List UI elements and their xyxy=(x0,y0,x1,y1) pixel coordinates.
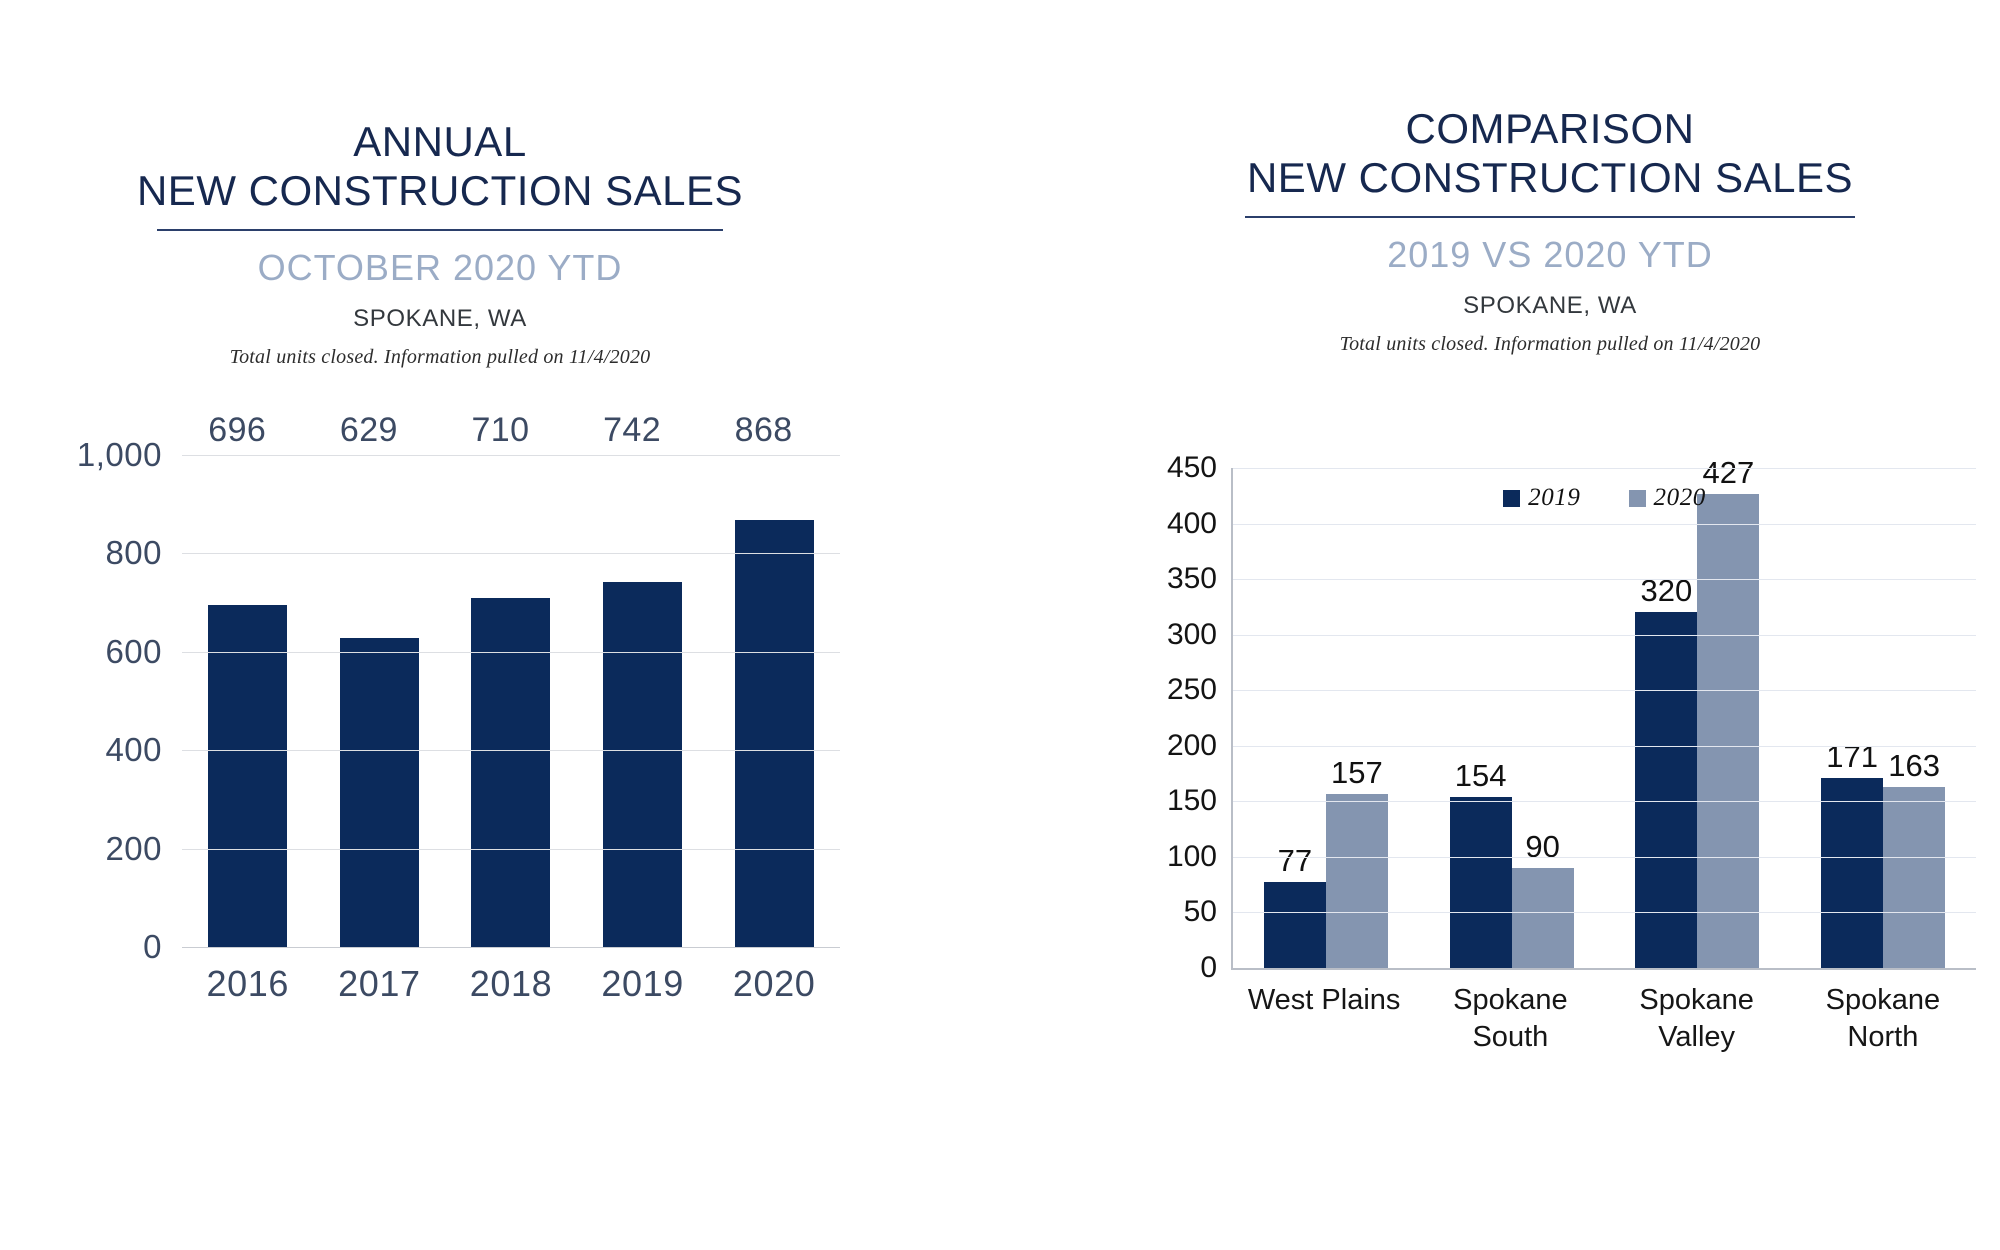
infographic-page: ANNUAL NEW CONSTRUCTION SALES OCTOBER 20… xyxy=(0,0,2000,1250)
bar-value-label: 154 xyxy=(1455,758,1507,794)
comparison-sales-panel: COMPARISON NEW CONSTRUCTION SALES 2019 V… xyxy=(1090,0,2000,1250)
annual-plot-area: 696629710742868 xyxy=(182,455,840,947)
bar-value-label: 163 xyxy=(1888,748,1940,784)
bar-value-label: 742 xyxy=(603,411,661,450)
comparison-note: Total units closed. Information pulled o… xyxy=(1115,333,1985,356)
bar[interactable]: 629 xyxy=(340,638,419,947)
bar[interactable]: 696 xyxy=(208,605,287,947)
bar-group[interactable]: 710 xyxy=(445,455,577,947)
bar-value-label: 629 xyxy=(340,411,398,450)
annual-title: ANNUAL NEW CONSTRUCTION SALES xyxy=(40,118,840,215)
comparison-subtitle: 2019 VS 2020 YTD xyxy=(1115,234,1985,276)
y-tick-label: 1,000 xyxy=(40,436,162,474)
gridline xyxy=(182,455,840,456)
y-tick-label: 0 xyxy=(1115,951,1217,985)
bar-value-label: 77 xyxy=(1278,843,1312,879)
comparison-header: COMPARISON NEW CONSTRUCTION SALES 2019 V… xyxy=(1115,105,1985,356)
x-tick-label: Spokane North xyxy=(1790,982,1976,1056)
y-tick-label: 400 xyxy=(1115,507,1217,541)
bar[interactable]: 427 xyxy=(1697,494,1759,968)
comparison-location: SPOKANE, WA xyxy=(1115,292,1985,320)
y-tick-label: 200 xyxy=(1115,729,1217,763)
x-tick-label: West Plains xyxy=(1231,982,1417,1056)
bar-wrapper: 171 xyxy=(1821,778,1883,968)
comparison-divider xyxy=(1245,216,1855,218)
y-tick-label: 400 xyxy=(40,731,162,769)
bar-group[interactable]: 171163 xyxy=(1790,468,1976,968)
bar-value-label: 171 xyxy=(1826,739,1878,775)
annual-location: SPOKANE, WA xyxy=(40,305,840,333)
gridline xyxy=(1233,912,1976,913)
bar-group[interactable]: 77157 xyxy=(1233,468,1419,968)
bar-wrapper: 163 xyxy=(1883,787,1945,968)
gridline xyxy=(182,652,840,653)
bar-value-label: 710 xyxy=(471,411,529,450)
bar[interactable]: 742 xyxy=(603,582,682,947)
y-tick-label: 450 xyxy=(1115,451,1217,485)
gridline xyxy=(1233,635,1976,636)
bar-value-label: 90 xyxy=(1525,829,1559,865)
y-tick-label: 600 xyxy=(40,633,162,671)
y-tick-label: 150 xyxy=(1115,784,1217,818)
gridline xyxy=(1233,746,1976,747)
bar-wrapper: 320 xyxy=(1635,612,1697,968)
y-tick-label: 250 xyxy=(1115,673,1217,707)
gridline xyxy=(1233,468,1976,469)
y-tick-label: 300 xyxy=(1115,618,1217,652)
bar[interactable]: 171 xyxy=(1821,778,1883,968)
bar-value-label: 427 xyxy=(1703,455,1755,491)
x-tick-label: 2020 xyxy=(708,963,840,1005)
bar-wrapper: 154 xyxy=(1450,797,1512,968)
bar[interactable]: 90 xyxy=(1512,868,1574,968)
annual-note: Total units closed. Information pulled o… xyxy=(40,346,840,369)
bar-group[interactable]: 320427 xyxy=(1605,468,1791,968)
bar[interactable]: 163 xyxy=(1883,787,1945,968)
y-tick-label: 100 xyxy=(1115,840,1217,874)
annual-subtitle: OCTOBER 2020 YTD xyxy=(40,247,840,289)
comparison-x-axis-labels: West PlainsSpokane SouthSpokane ValleySp… xyxy=(1231,982,1976,1056)
y-tick-label: 200 xyxy=(40,830,162,868)
comparison-y-axis: 050100150200250300350400450 xyxy=(1115,450,1217,990)
gridline xyxy=(182,849,840,850)
y-tick-label: 0 xyxy=(40,928,162,966)
bar-wrapper: 77 xyxy=(1264,882,1326,968)
bar[interactable]: 154 xyxy=(1450,797,1512,968)
bar-group[interactable]: 742 xyxy=(577,455,709,947)
gridline xyxy=(1233,579,1976,580)
gridline xyxy=(1233,857,1976,858)
bar-wrapper: 427 xyxy=(1697,494,1759,968)
comparison-plot-area: 7715715490320427171163 20192020 xyxy=(1231,468,1976,970)
gridline xyxy=(182,553,840,554)
gridline xyxy=(182,750,840,751)
bar[interactable]: 868 xyxy=(735,520,814,947)
y-tick-label: 800 xyxy=(40,534,162,572)
bar[interactable]: 157 xyxy=(1326,794,1388,968)
bar-wrapper: 157 xyxy=(1326,794,1388,968)
comparison-bars: 7715715490320427171163 xyxy=(1233,468,1976,968)
comparison-bar-chart: 050100150200250300350400450 771571549032… xyxy=(1115,450,1985,1010)
annual-y-axis: 02004006008001,000 xyxy=(40,455,162,947)
gridline xyxy=(182,947,840,948)
y-tick-label: 350 xyxy=(1115,562,1217,596)
bar[interactable]: 320 xyxy=(1635,612,1697,968)
y-tick-label: 50 xyxy=(1115,895,1217,929)
x-tick-label: Spokane Valley xyxy=(1604,982,1790,1056)
annual-divider xyxy=(157,229,723,231)
x-tick-label: 2018 xyxy=(445,963,577,1005)
x-tick-label: 2017 xyxy=(314,963,446,1005)
annual-sales-panel: ANNUAL NEW CONSTRUCTION SALES OCTOBER 20… xyxy=(0,0,880,1250)
bar-group[interactable]: 868 xyxy=(708,455,840,947)
bar-group[interactable]: 15490 xyxy=(1419,468,1605,968)
comparison-title: COMPARISON NEW CONSTRUCTION SALES xyxy=(1115,105,1985,202)
bar-value-label: 157 xyxy=(1331,755,1383,791)
annual-bar-chart: 02004006008001,000 696629710742868 20162… xyxy=(40,455,840,1015)
bar[interactable]: 710 xyxy=(471,598,550,947)
annual-header: ANNUAL NEW CONSTRUCTION SALES OCTOBER 20… xyxy=(40,118,840,369)
x-tick-label: 2016 xyxy=(182,963,314,1005)
x-tick-label: 2019 xyxy=(577,963,709,1005)
annual-x-axis-labels: 20162017201820192020 xyxy=(182,963,840,1005)
bar-value-label: 868 xyxy=(735,411,793,450)
gridline xyxy=(1233,524,1976,525)
bar-group[interactable]: 696 xyxy=(182,455,314,947)
bar-group[interactable]: 629 xyxy=(314,455,446,947)
x-tick-label: Spokane South xyxy=(1417,982,1603,1056)
annual-bars: 696629710742868 xyxy=(182,455,840,947)
bar[interactable]: 77 xyxy=(1264,882,1326,968)
bar-value-label: 696 xyxy=(208,411,266,450)
gridline xyxy=(1233,690,1976,691)
bar-wrapper: 90 xyxy=(1512,868,1574,968)
gridline xyxy=(1233,801,1976,802)
